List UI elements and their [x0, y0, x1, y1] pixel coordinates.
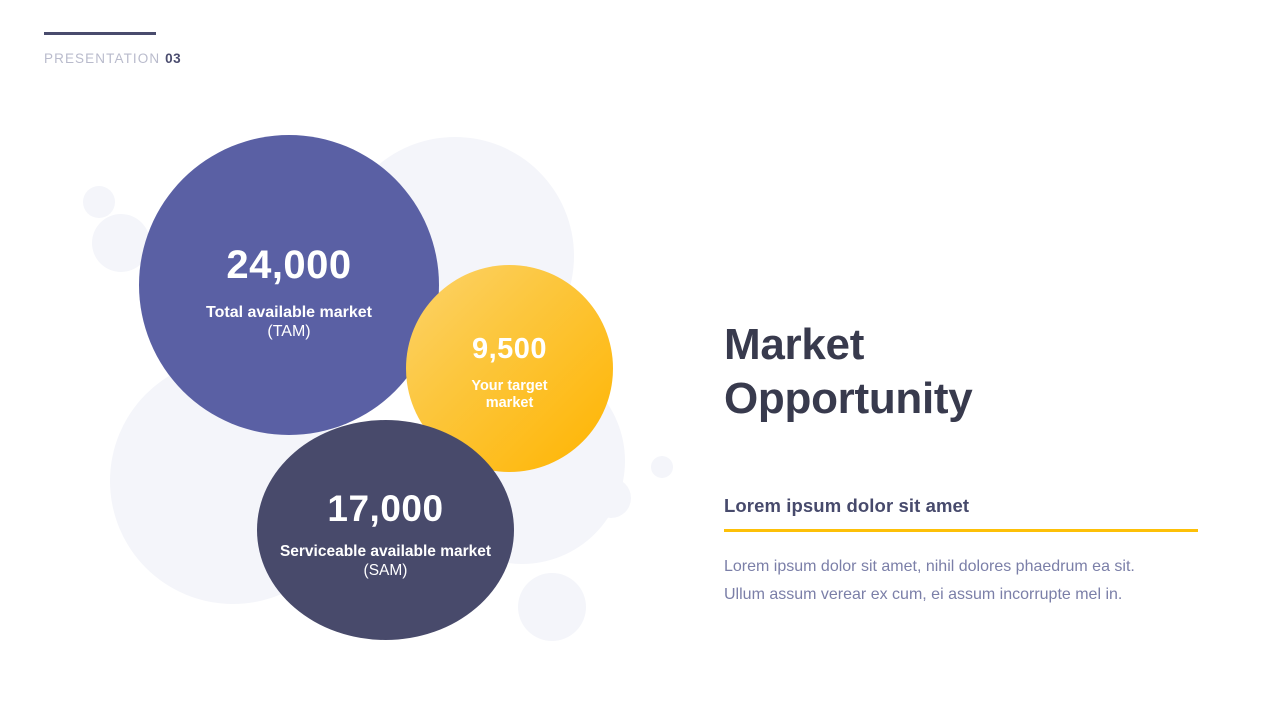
content-body-line-1: Lorem ipsum dolor sit amet, nihil dolore…: [724, 553, 1202, 581]
market-bubble-diagram: 24,000 Total available market(TAM) 9,500…: [0, 0, 720, 720]
slide: PRESENTATION 03 24,000 Total available m…: [0, 0, 1280, 720]
content-body: Lorem ipsum dolor sit amet, nihil dolore…: [724, 553, 1202, 608]
bubble-target-caption: Your target market: [450, 378, 570, 413]
bubble-sam-value: 17,000: [327, 490, 443, 527]
bubble-tam-value: 24,000: [226, 245, 351, 285]
content-column: Market Opportunity Lorem ipsum dolor sit…: [724, 318, 1202, 608]
bubble-tam-caption-bold: Total available market: [206, 304, 372, 321]
bubble-serviceable-available-market[interactable]: 17,000 Serviceable available market (SAM…: [257, 420, 514, 640]
bubble-sam-caption-light: (SAM): [364, 562, 408, 579]
bubble-tam-caption-light: (TAM): [267, 323, 310, 340]
content-subtitle: Lorem ipsum dolor sit amet: [724, 495, 1202, 517]
bubble-tam-caption: Total available market(TAM): [169, 303, 409, 341]
page-title: Market Opportunity: [724, 318, 1202, 425]
bubble-total-available-market[interactable]: 24,000 Total available market(TAM): [139, 135, 439, 435]
bubble-target-value: 9,500: [472, 335, 547, 364]
accent-divider: [724, 529, 1198, 532]
bubble-sam-caption: Serviceable available market (SAM): [278, 543, 493, 580]
bubble-sam-caption-bold: Serviceable available market: [280, 543, 491, 560]
content-body-line-2: Ullum assum verear ex cum, ei assum inco…: [724, 581, 1202, 609]
